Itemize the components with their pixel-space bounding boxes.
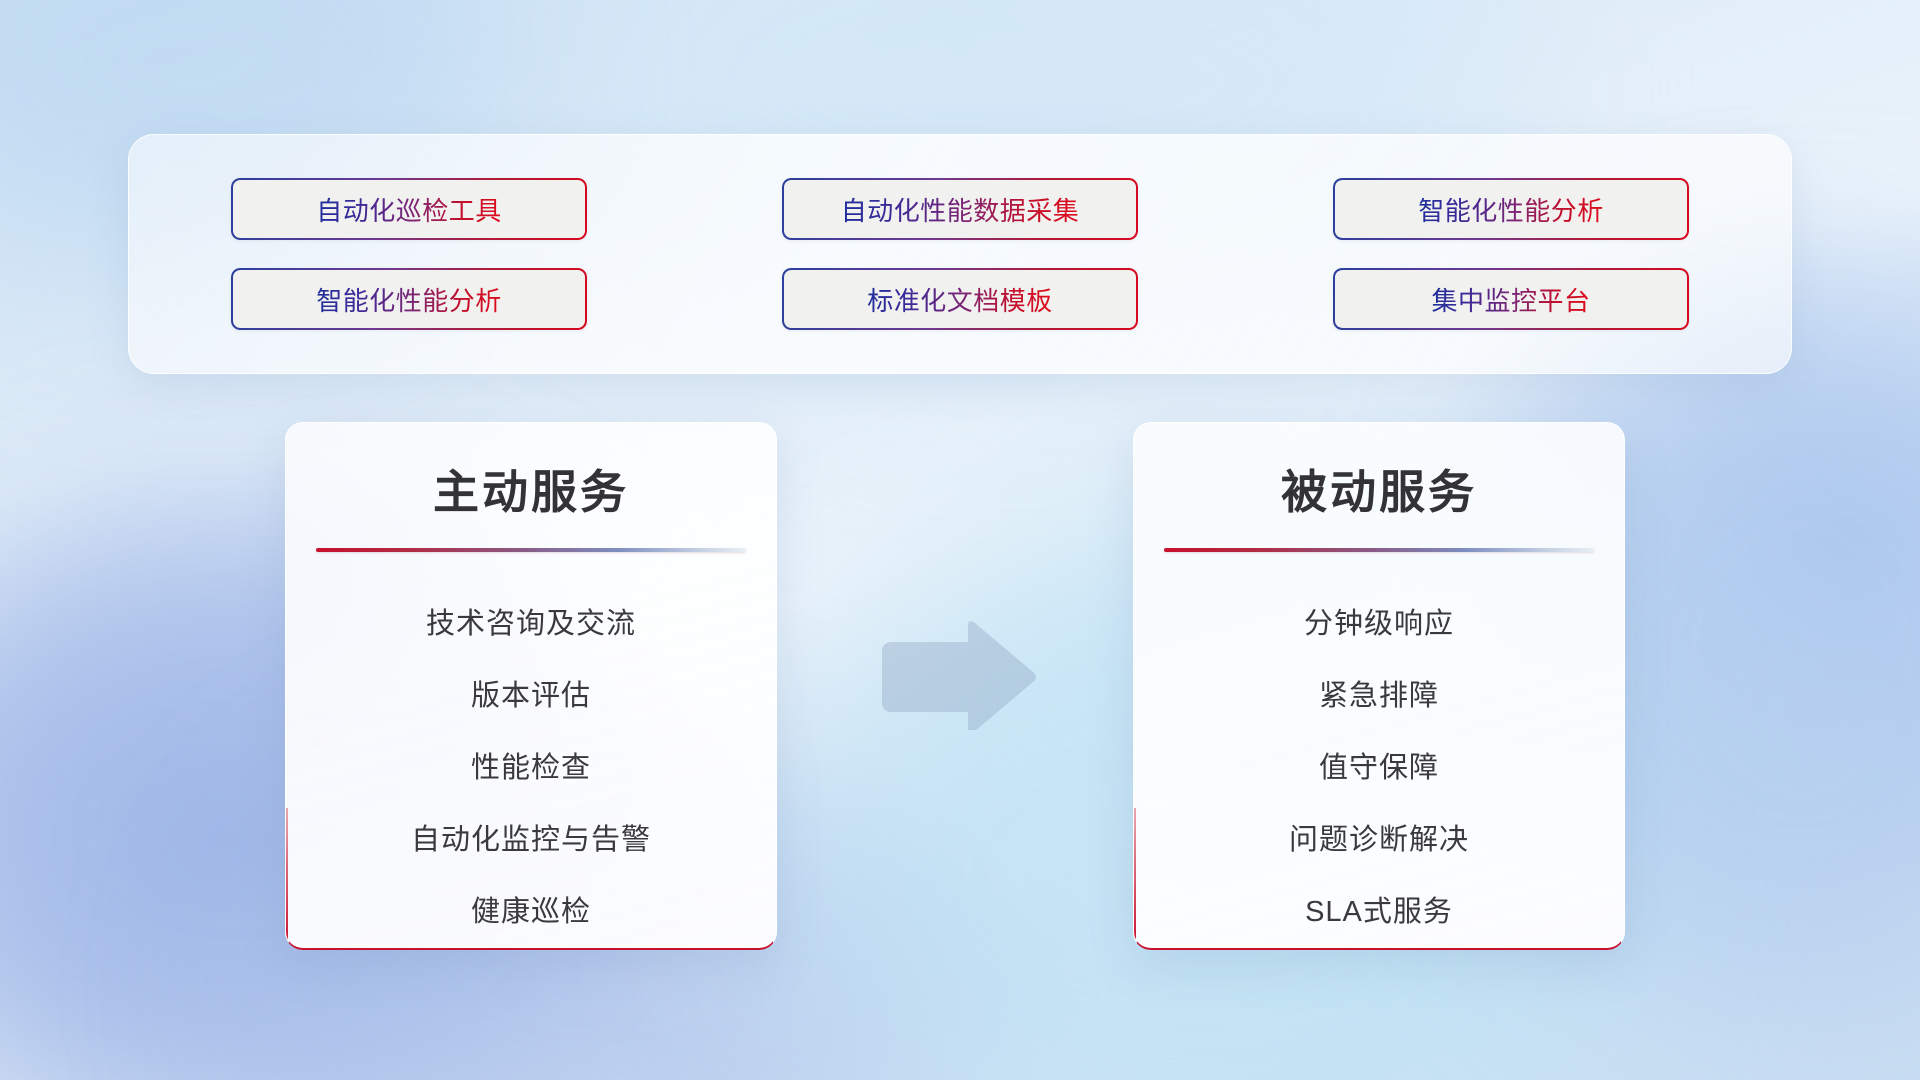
list-item[interactable]: 紧急排障 — [1319, 660, 1439, 732]
slide-canvas: 自动化巡检工具 自动化性能数据采集 智能化性能分析 智能化性能分析 标准化文档模… — [0, 0, 1920, 1080]
capability-tag-label: 集中监控平台 — [1431, 281, 1590, 318]
list-item[interactable]: 值守保障 — [1319, 732, 1439, 804]
capability-tag-grid: 自动化巡检工具 自动化性能数据采集 智能化性能分析 智能化性能分析 标准化文档模… — [231, 178, 1689, 330]
service-card-passive: 被动服务 分钟级响应 紧急排障 值守保障 问题诊断解决 SLA式服务 — [1133, 422, 1625, 950]
arrow-right-icon — [878, 620, 1038, 730]
card-divider — [1164, 548, 1594, 552]
list-item[interactable]: 问题诊断解决 — [1289, 804, 1469, 876]
capability-tag-automation-performance-data-collection[interactable]: 自动化性能数据采集 — [782, 178, 1138, 240]
list-item[interactable]: 版本评估 — [471, 660, 591, 732]
capability-tag-label: 自动化巡检工具 — [316, 191, 502, 228]
capability-tag-intelligent-performance-analysis-1[interactable]: 智能化性能分析 — [1333, 178, 1689, 240]
capability-tag-label: 自动化性能数据采集 — [841, 191, 1080, 228]
list-item[interactable]: 性能检查 — [471, 732, 591, 804]
service-card-active: 主动服务 技术咨询及交流 版本评估 性能检查 自动化监控与告警 健康巡检 — [285, 422, 777, 950]
capability-tag-label: 标准化文档模板 — [867, 281, 1053, 318]
card-list-passive: 分钟级响应 紧急排障 值守保障 问题诊断解决 SLA式服务 — [1134, 588, 1624, 948]
card-title-passive: 被动服务 — [1281, 456, 1477, 522]
card-title-active: 主动服务 — [433, 456, 629, 522]
list-item[interactable]: 自动化监控与告警 — [411, 804, 651, 876]
capability-tag-label: 智能化性能分析 — [316, 281, 502, 318]
capability-tag-label: 智能化性能分析 — [1418, 191, 1604, 228]
capability-panel: 自动化巡检工具 自动化性能数据采集 智能化性能分析 智能化性能分析 标准化文档模… — [128, 134, 1792, 374]
card-divider — [316, 548, 746, 552]
card-list-active: 技术咨询及交流 版本评估 性能检查 自动化监控与告警 健康巡检 — [286, 588, 776, 948]
list-item[interactable]: 分钟级响应 — [1304, 588, 1454, 660]
capability-tag-standardized-document-template[interactable]: 标准化文档模板 — [782, 268, 1138, 330]
capability-tag-intelligent-performance-analysis-2[interactable]: 智能化性能分析 — [231, 268, 587, 330]
list-item[interactable]: SLA式服务 — [1305, 876, 1453, 948]
capability-tag-automation-inspection-tool[interactable]: 自动化巡检工具 — [231, 178, 587, 240]
list-item[interactable]: 健康巡检 — [471, 876, 591, 948]
capability-tag-centralized-monitoring-platform[interactable]: 集中监控平台 — [1333, 268, 1689, 330]
list-item[interactable]: 技术咨询及交流 — [426, 588, 636, 660]
